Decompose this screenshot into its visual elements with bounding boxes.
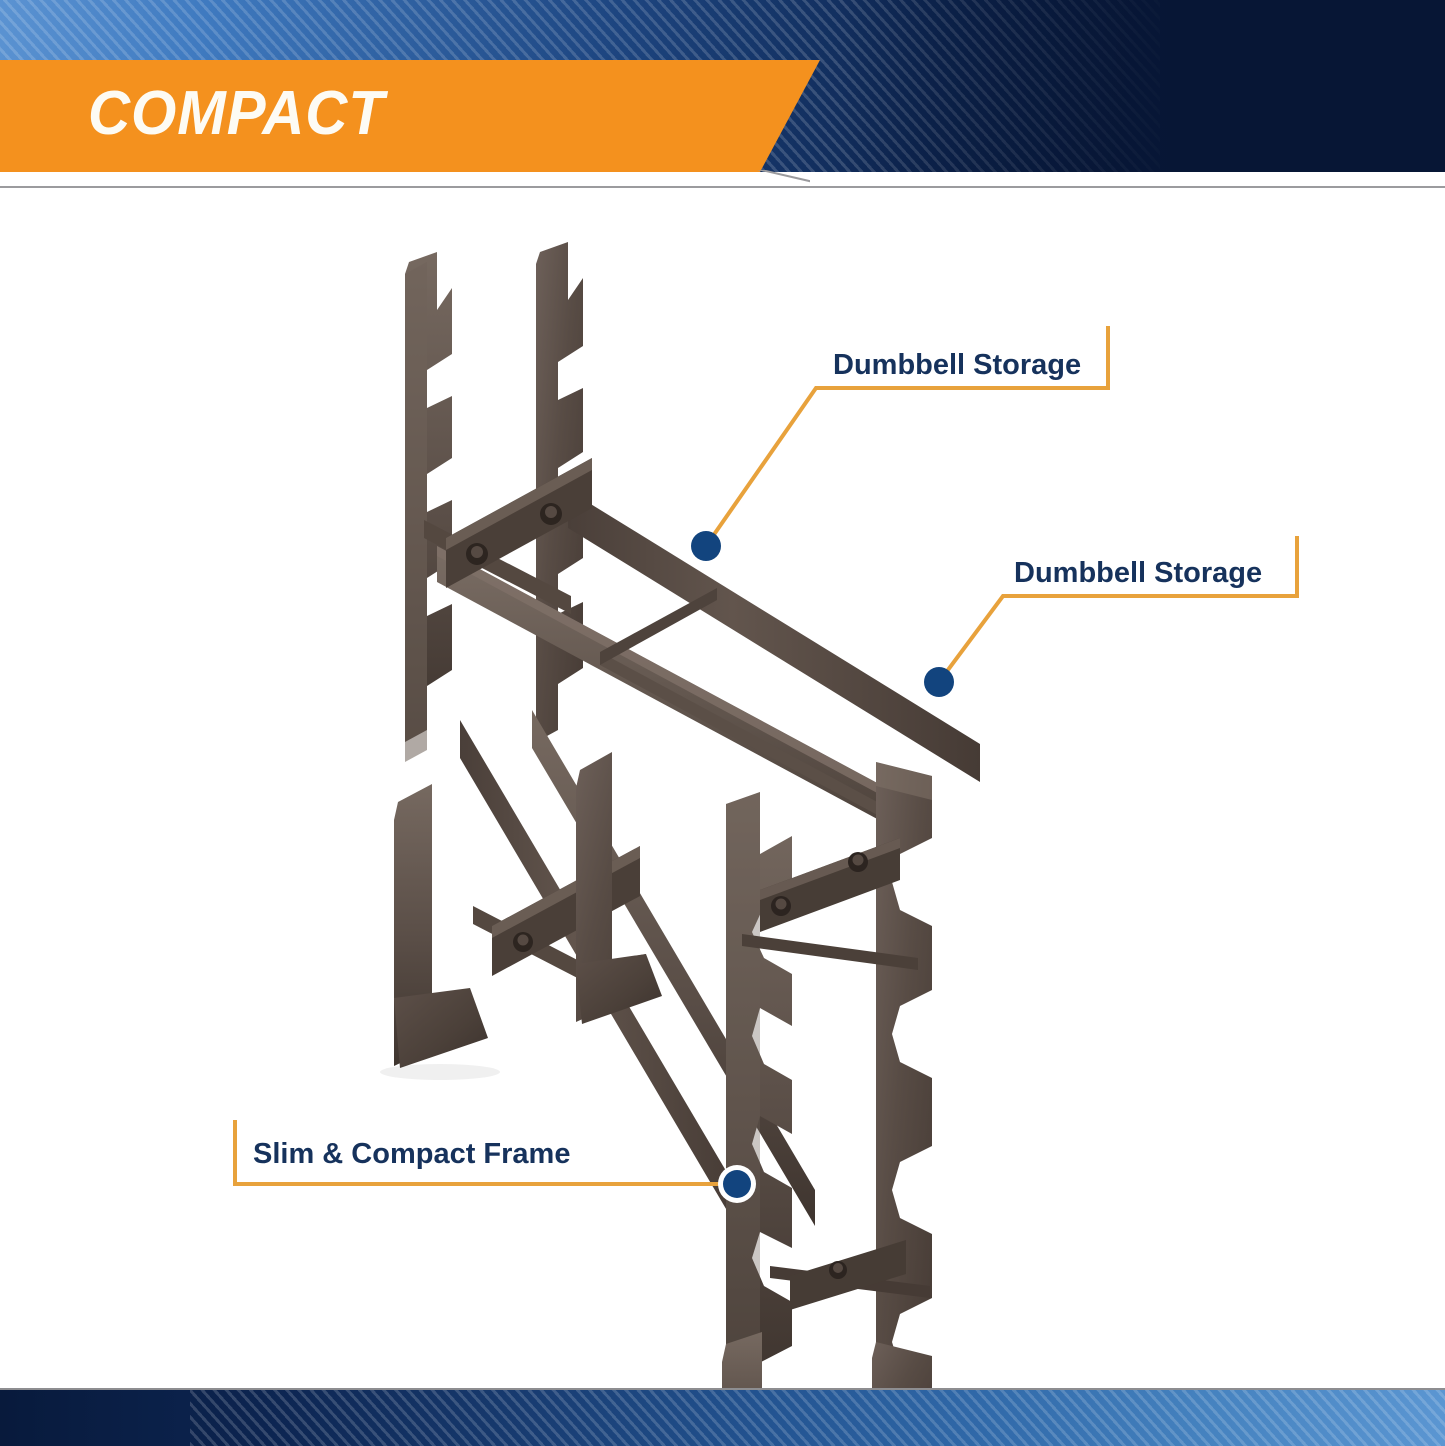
- callout-label: Slim & Compact Frame: [253, 1138, 570, 1170]
- callout-anchor-dot[interactable]: [924, 667, 954, 697]
- page-title: COMPACT: [88, 74, 385, 154]
- callout-slim-compact-frame[interactable]: Slim & Compact Frame: [235, 1122, 756, 1203]
- header-notch-edge: [740, 170, 810, 190]
- callout-anchor-dot[interactable]: [723, 1170, 751, 1198]
- product-dumbbell-rack: [380, 242, 990, 1388]
- infographic-canvas: COMPACT: [0, 0, 1445, 1446]
- rack-panel-right-inner: [726, 792, 792, 1380]
- callout-anchor-dot[interactable]: [691, 531, 721, 561]
- header-divider-line: [0, 186, 1445, 188]
- callout-label: Dumbbell Storage: [1014, 557, 1262, 589]
- rack-foot-back-left-plate: [394, 988, 488, 1068]
- footer-band: [0, 1390, 1445, 1446]
- callout-label: Dumbbell Storage: [833, 349, 1081, 381]
- footer-stripe-pattern: [190, 1390, 1445, 1446]
- rack-upright-back-left: [405, 252, 452, 762]
- rack-mid-bar-upper2: [600, 588, 717, 665]
- callout-dumbbell-storage-right[interactable]: Dumbbell Storage: [924, 538, 1297, 697]
- shadow-left: [380, 1064, 500, 1080]
- product-artboard: Dumbbell Storage Dumbbell Storage Slim &…: [0, 190, 1445, 1388]
- rack-foot-right-outer: [872, 1342, 932, 1388]
- callout-dumbbell-storage-top[interactable]: Dumbbell Storage: [691, 328, 1108, 561]
